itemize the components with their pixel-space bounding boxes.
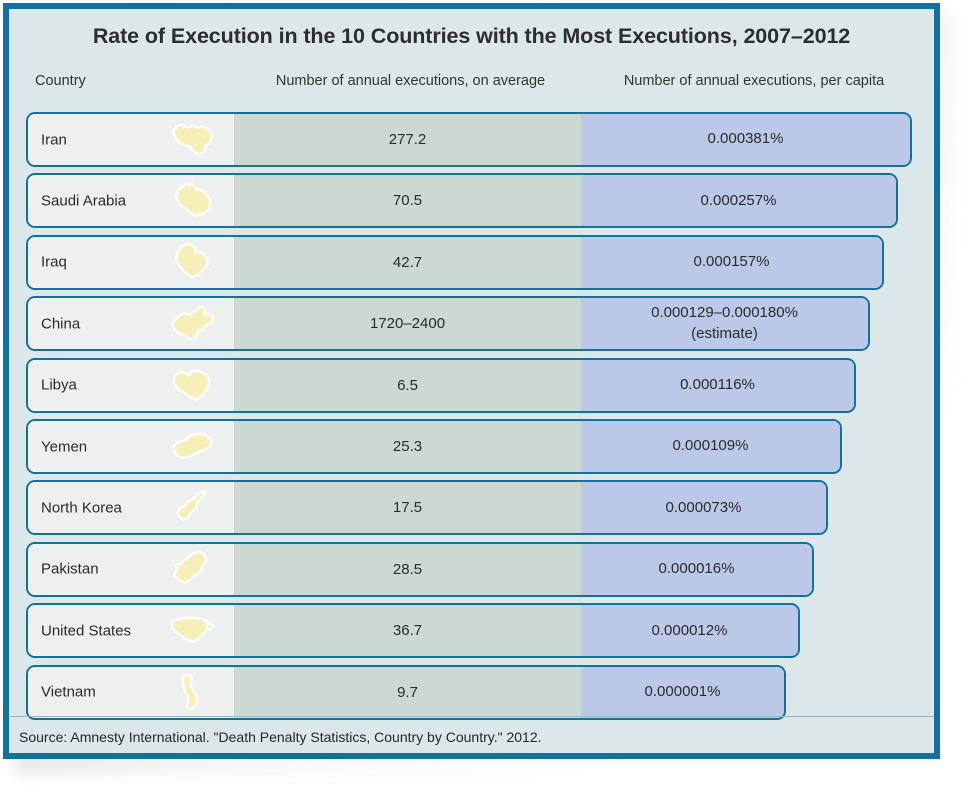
cell-annual-executions-average: 42.7 [234,237,581,288]
country-name: China [41,315,80,332]
page-title: Rate of Execution in the 10 Countries wi… [9,24,934,49]
cell-annual-executions-per-capita: 0.000016% [581,544,812,595]
cell-country: Iran [28,114,234,165]
per-capita-value: 0.000129–0.000180%(estimate) [651,303,798,344]
country-name: United States [41,622,131,639]
cell-country: North Korea [28,482,234,533]
cell-annual-executions-per-capita: 0.000116% [581,360,854,411]
map-vietnam-icon [156,668,230,716]
per-capita-value: 0.000001% [645,682,721,702]
map-yemen-icon [156,423,230,471]
per-capita-value: 0.000381% [708,129,784,149]
cell-annual-executions-average: 17.5 [234,482,581,533]
country-name: North Korea [41,499,122,516]
map-pakistan-icon [156,545,230,593]
map-iraq-icon [156,238,230,286]
cell-annual-executions-average: 6.5 [234,360,581,411]
cell-country: Saudi Arabia [28,175,234,226]
per-capita-value: 0.000016% [659,559,735,579]
per-capita-value: 0.000157% [694,252,770,272]
figure-root: Rate of Execution in the 10 Countries wi… [0,0,975,796]
country-name: Saudi Arabia [41,192,126,209]
cell-annual-executions-per-capita: 0.000109% [581,421,840,472]
map-libya-icon [156,361,230,409]
table-row: Iraq42.70.000157% [26,235,884,290]
table-row: Saudi Arabia70.50.000257% [26,173,898,228]
country-name: Libya [41,377,77,394]
cell-country: Yemen [28,421,234,472]
cell-annual-executions-average: 1720–2400 [234,298,581,349]
cell-annual-executions-average: 25.3 [234,421,581,472]
table-row: Libya6.50.000116% [26,358,856,413]
footer-divider [9,716,934,717]
per-capita-value: 0.000012% [652,621,728,641]
country-name: Pakistan [41,561,99,578]
table-row: Iran277.20.000381% [26,112,912,167]
cell-country: United States [28,605,234,656]
table-row: China1720–24000.000129–0.000180%(estimat… [26,296,870,351]
country-name: Iraq [41,254,67,271]
table-row: Vietnam9.70.000001% [26,665,786,720]
column-header-country: Country [35,73,86,89]
map-china-icon [156,300,230,348]
map-iran-icon [156,116,230,164]
cell-annual-executions-average: 36.7 [234,605,581,656]
table-row: United States36.70.000012% [26,603,800,658]
table-row: Yemen25.30.000109% [26,419,842,474]
cell-country: Pakistan [28,544,234,595]
map-north-korea-icon [156,484,230,532]
cell-annual-executions-per-capita: 0.000129–0.000180%(estimate) [581,298,868,349]
country-name: Iran [41,131,67,148]
cell-annual-executions-average: 9.7 [234,667,581,718]
cell-annual-executions-average: 28.5 [234,544,581,595]
column-header-average: Number of annual executions, on average [252,73,569,89]
country-name: Vietnam [41,684,96,701]
cell-annual-executions-per-capita: 0.000012% [581,605,798,656]
table-row: North Korea17.50.000073% [26,480,828,535]
per-capita-value: 0.000073% [666,498,742,518]
cell-annual-executions-average: 277.2 [234,114,581,165]
cell-country: Iraq [28,237,234,288]
map-saudi-arabia-icon [156,177,230,225]
source-note: Source: Amnesty International. "Death Pe… [19,729,542,745]
column-header-row: Country Number of annual executions, on … [9,73,934,95]
cell-country: Vietnam [28,667,234,718]
cell-annual-executions-per-capita: 0.000257% [581,175,896,226]
map-united-states-icon [156,607,230,655]
table-row: Pakistan28.50.000016% [26,542,814,597]
per-capita-value: 0.000109% [673,436,749,456]
cell-country: China [28,298,234,349]
cell-annual-executions-per-capita: 0.000381% [581,114,910,165]
per-capita-value: 0.000116% [680,375,755,395]
cell-country: Libya [28,360,234,411]
cell-annual-executions-per-capita: 0.000157% [581,237,882,288]
cell-annual-executions-average: 70.5 [234,175,581,226]
cell-annual-executions-per-capita: 0.000073% [581,482,826,533]
cell-annual-executions-per-capita: 0.000001% [581,667,784,718]
country-name: Yemen [41,438,87,455]
table-panel: Rate of Execution in the 10 Countries wi… [3,3,940,759]
column-header-per-capita: Number of annual executions, per capita [604,73,904,89]
per-capita-value: 0.000257% [701,191,777,211]
